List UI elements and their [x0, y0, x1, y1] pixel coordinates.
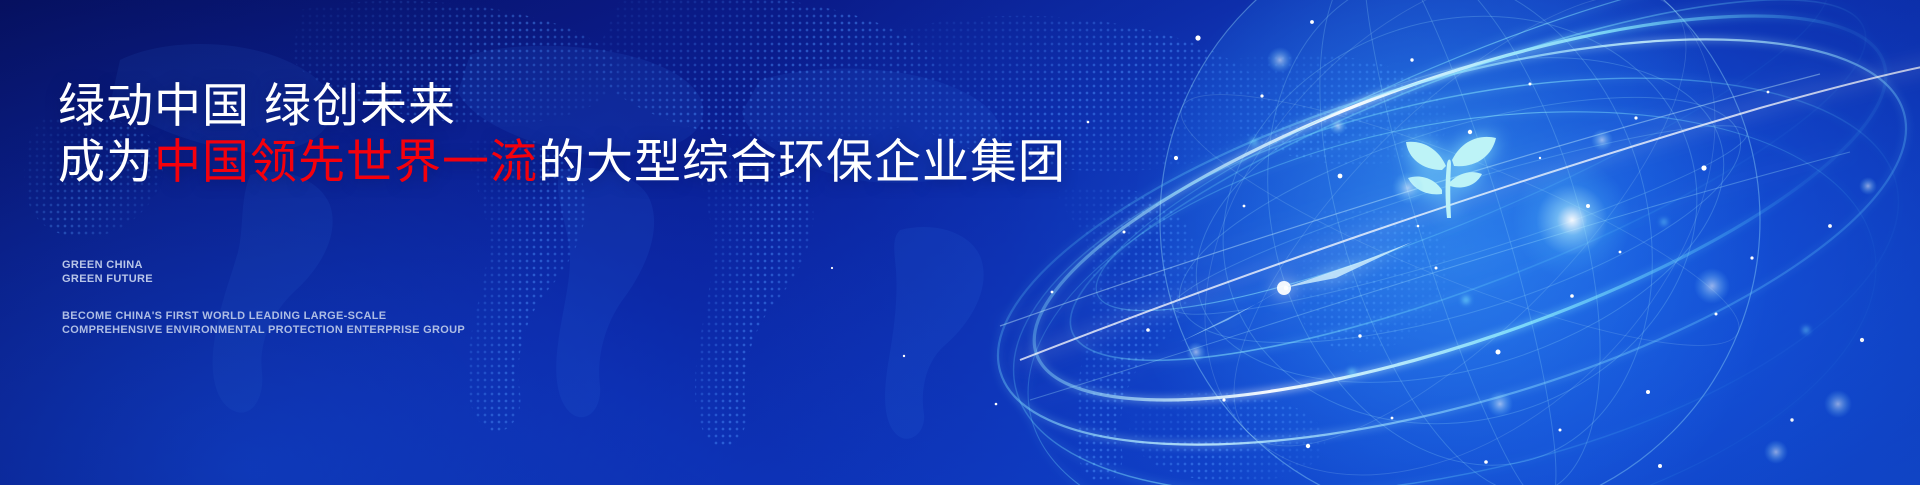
wireframe-globe — [1060, 0, 1920, 485]
subcopy-english: BECOME CHINA'S FIRST WORLD LEADING LARGE… — [62, 309, 465, 337]
tagline-line-1: GREEN CHINA — [62, 258, 153, 272]
subcopy-line-1: BECOME CHINA'S FIRST WORLD LEADING LARGE… — [62, 309, 465, 323]
sprout-leaf-icon — [1388, 108, 1508, 228]
tagline-english: GREEN CHINA GREEN FUTURE — [62, 258, 153, 286]
hero-banner: 绿动中国 绿创未来 成为中国领先世界一流的大型综合环保企业集团 GREEN CH… — [0, 0, 1920, 485]
tagline-line-2: GREEN FUTURE — [62, 272, 153, 286]
headline-line-1: 绿动中国 绿创未来 — [58, 78, 1066, 134]
headline-line-2-suffix: 的大型综合环保企业集团 — [538, 135, 1066, 188]
headline-line-2-highlight: 中国领先世界一流 — [154, 135, 538, 188]
headline-line-2: 成为中国领先世界一流的大型综合环保企业集团 — [58, 134, 1066, 190]
globe-glow — [1130, 0, 1770, 485]
banner-copy: 绿动中国 绿创未来 成为中国领先世界一流的大型综合环保企业集团 GREEN CH… — [58, 0, 1058, 485]
page-title: 绿动中国 绿创未来 成为中国领先世界一流的大型综合环保企业集团 — [58, 78, 1066, 190]
subcopy-line-2: COMPREHENSIVE ENVIRONMENTAL PROTECTION E… — [62, 323, 465, 337]
headline-line-2-prefix: 成为 — [58, 135, 154, 188]
globe-core-flare — [1512, 160, 1632, 280]
